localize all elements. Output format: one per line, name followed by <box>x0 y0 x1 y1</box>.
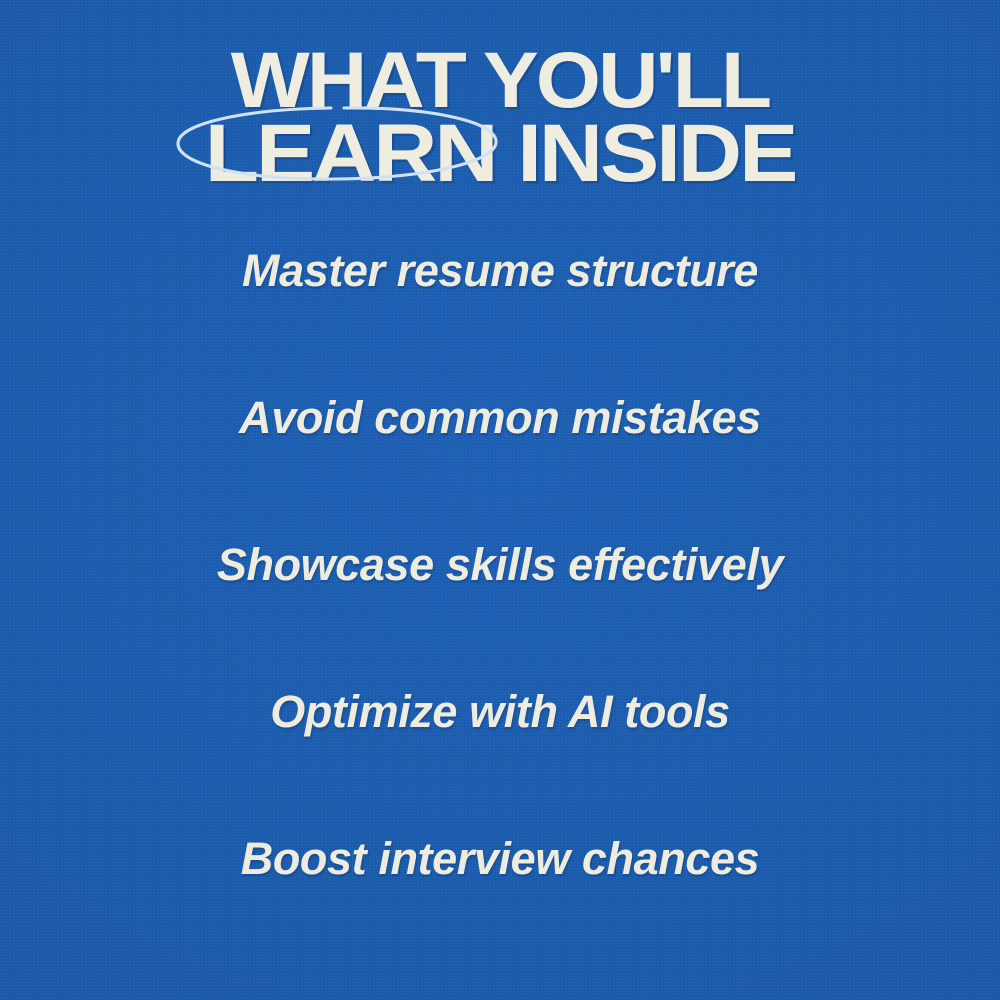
list-item: Avoid common mistakes <box>0 395 1000 542</box>
list-item: Boost interview chances <box>0 836 1000 983</box>
benefit-list: Master resume structure Avoid common mis… <box>0 248 1000 983</box>
list-item: Optimize with AI tools <box>0 689 1000 836</box>
slide-canvas: WHAT YOU'LL LEARN INSIDE Master resume s… <box>0 0 1000 1000</box>
headline-line-2: LEARN INSIDE <box>0 116 1000 191</box>
headline-line-1: WHAT YOU'LL <box>0 44 1000 117</box>
list-item: Showcase skills effectively <box>0 542 1000 689</box>
page-title: WHAT YOU'LL LEARN INSIDE <box>0 44 1000 184</box>
list-item: Master resume structure <box>0 248 1000 395</box>
